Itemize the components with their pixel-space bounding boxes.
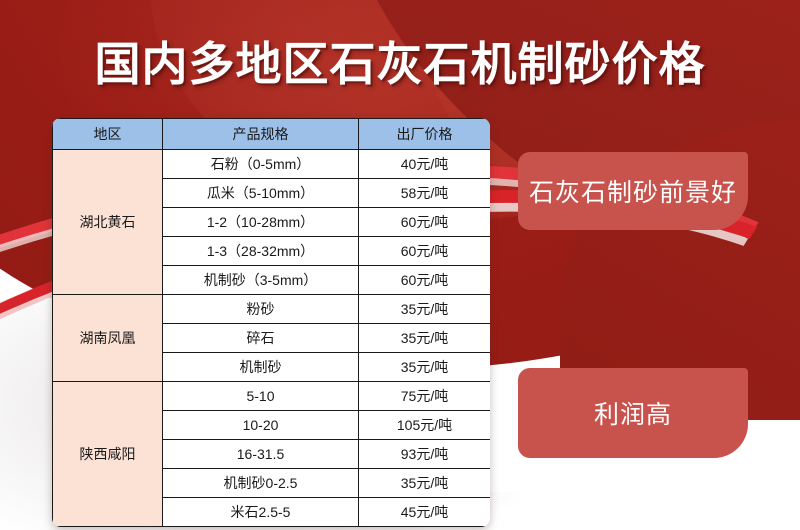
callout-prospects: 石灰石制砂前景好: [518, 152, 748, 230]
spec-cell: 石粉（0-5mm）: [163, 150, 359, 179]
spec-cell: 机制砂（3-5mm）: [163, 266, 359, 295]
spec-cell: 5-10: [163, 382, 359, 411]
price-table-container: 地区 产品规格 出厂价格 湖北黄石 石粉（0-5mm） 40元/吨 瓜米（5-1…: [52, 118, 490, 527]
price-cell: 60元/吨: [359, 208, 491, 237]
region-cell: 湖南凤凰: [53, 295, 163, 382]
price-cell: 60元/吨: [359, 266, 491, 295]
price-cell: 35元/吨: [359, 469, 491, 498]
region-cell: 湖北黄石: [53, 150, 163, 295]
table-row: 湖北黄石 石粉（0-5mm） 40元/吨: [53, 150, 491, 179]
callout-profit: 利润高: [518, 368, 748, 458]
price-cell: 105元/吨: [359, 411, 491, 440]
callout-profit-label: 利润高: [594, 395, 672, 431]
column-header-price: 出厂价格: [359, 119, 491, 150]
spec-cell: 碎石: [163, 324, 359, 353]
page-title: 国内多地区石灰石机制砂价格: [0, 36, 800, 92]
spec-cell: 粉砂: [163, 295, 359, 324]
poster-canvas: 国内多地区石灰石机制砂价格 地区 产品规格 出厂价格 湖北黄石 石粉（0-5mm…: [0, 0, 800, 530]
price-cell: 35元/吨: [359, 295, 491, 324]
price-table: 地区 产品规格 出厂价格 湖北黄石 石粉（0-5mm） 40元/吨 瓜米（5-1…: [52, 118, 490, 527]
table-header-row: 地区 产品规格 出厂价格: [53, 119, 491, 150]
price-cell: 40元/吨: [359, 150, 491, 179]
price-cell: 75元/吨: [359, 382, 491, 411]
spec-cell: 10-20: [163, 411, 359, 440]
spec-cell: 机制砂: [163, 353, 359, 382]
spec-cell: 1-2（10-28mm）: [163, 208, 359, 237]
spec-cell: 1-3（28-32mm）: [163, 237, 359, 266]
price-cell: 35元/吨: [359, 353, 491, 382]
price-cell: 93元/吨: [359, 440, 491, 469]
table-row: 湖南凤凰 粉砂 35元/吨: [53, 295, 491, 324]
column-header-spec: 产品规格: [163, 119, 359, 150]
spec-cell: 16-31.5: [163, 440, 359, 469]
price-cell: 58元/吨: [359, 179, 491, 208]
callout-prospects-label: 石灰石制砂前景好: [529, 173, 737, 209]
table-head: 地区 产品规格 出厂价格: [53, 119, 491, 150]
price-cell: 45元/吨: [359, 498, 491, 527]
table-row: 陕西咸阳 5-10 75元/吨: [53, 382, 491, 411]
spec-cell: 米石2.5-5: [163, 498, 359, 527]
column-header-region: 地区: [53, 119, 163, 150]
spec-cell: 机制砂0-2.5: [163, 469, 359, 498]
price-cell: 60元/吨: [359, 237, 491, 266]
region-cell: 陕西咸阳: [53, 382, 163, 527]
table-body: 湖北黄石 石粉（0-5mm） 40元/吨 瓜米（5-10mm） 58元/吨 1-…: [53, 150, 491, 527]
spec-cell: 瓜米（5-10mm）: [163, 179, 359, 208]
price-cell: 35元/吨: [359, 324, 491, 353]
